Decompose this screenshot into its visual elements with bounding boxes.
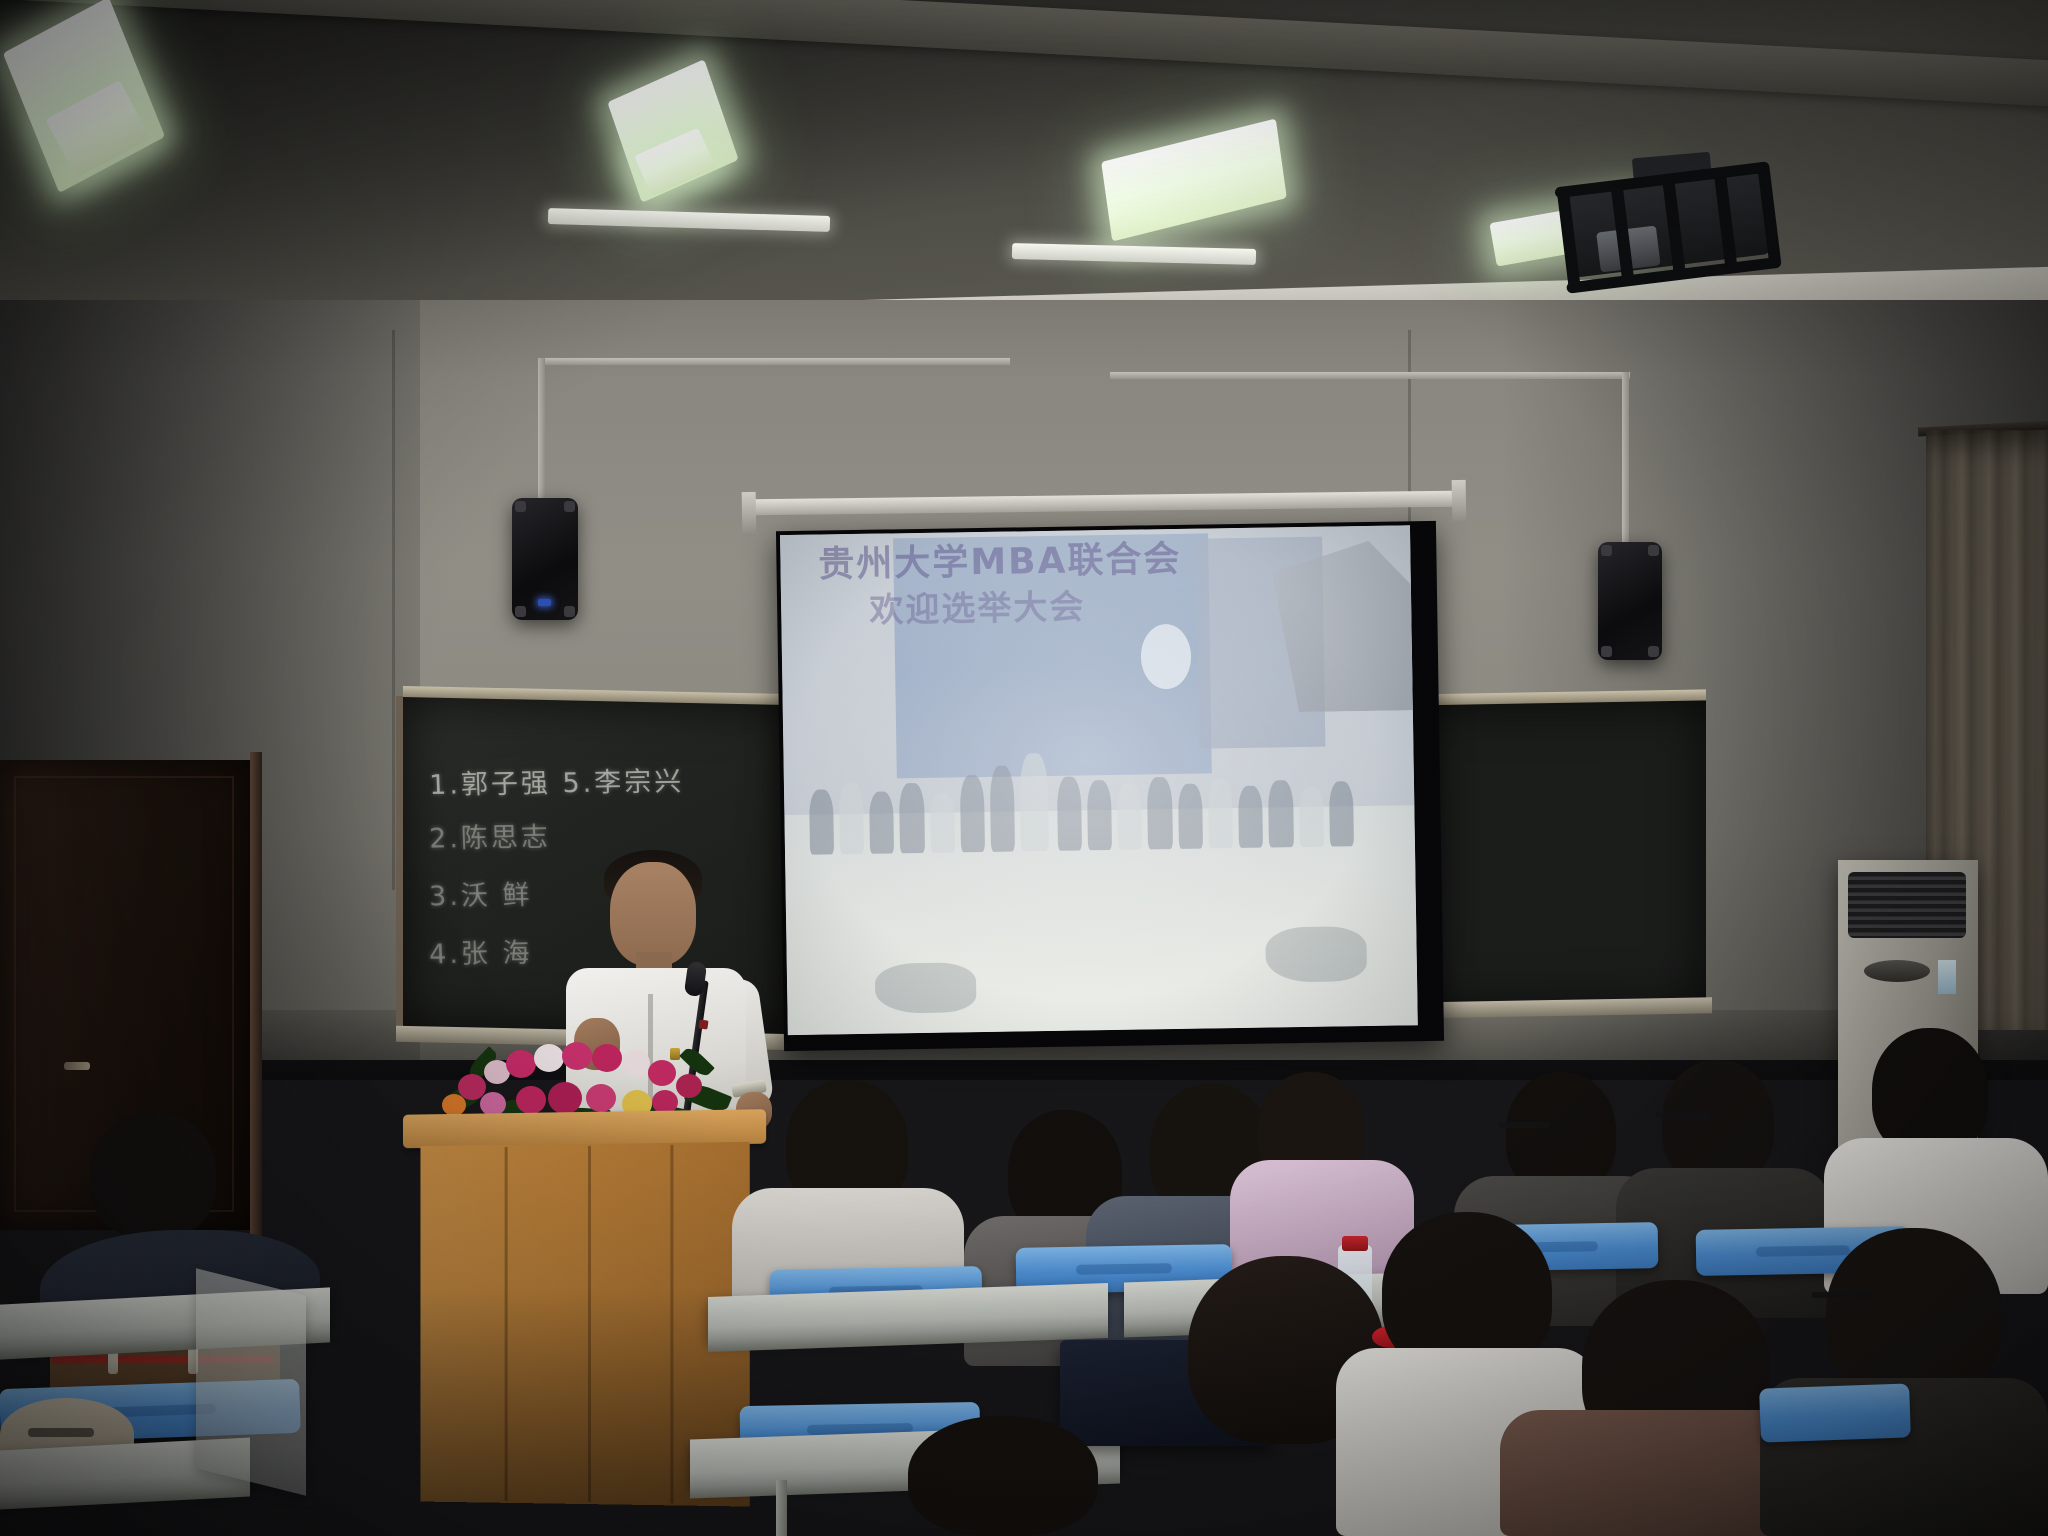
bottle-cap-icon: [1342, 1236, 1368, 1251]
blackboard-line-3: 3.沃 鲜: [428, 873, 533, 913]
conduit: [1622, 372, 1629, 542]
glasses-icon: [1498, 1122, 1550, 1128]
screen-bracket-left: [742, 492, 757, 536]
desk-leg: [776, 1480, 787, 1536]
conduit: [540, 358, 1010, 365]
conduit: [1110, 372, 1630, 379]
chair-back[interactable]: [1759, 1383, 1911, 1442]
microphone-band: [698, 1019, 708, 1029]
blackboard-line-2: 2.陈思志: [428, 815, 551, 856]
classroom-scene: 1.郭子强 5.李宗兴 2.陈思志 3.沃 鲜 4.张 海: [0, 0, 2048, 1536]
projection-screen[interactable]: 贵州大学MBA联合会 欢迎选举大会: [776, 521, 1444, 1051]
presenter-head: [610, 862, 696, 966]
door-handle-icon[interactable]: [64, 1062, 90, 1070]
cap-band: [28, 1428, 94, 1437]
ac-display-icon: [1864, 960, 1930, 982]
speaker-led-icon: [538, 599, 551, 606]
screen-glare: [780, 525, 1418, 1035]
glasses-icon: [1656, 1112, 1710, 1118]
screen-surface: 贵州大学MBA联合会 欢迎选举大会: [780, 525, 1418, 1035]
desk-side-panel: [196, 1268, 306, 1495]
ac-grille-icon: [1848, 872, 1966, 938]
audience-head: [1662, 1060, 1774, 1184]
audience-head: [1872, 1028, 1988, 1156]
audience-head: [908, 1416, 1098, 1536]
blackboard-line-1: 1.郭子强 5.李宗兴: [428, 759, 684, 802]
audience-head: [1826, 1228, 2002, 1400]
audience-head: [90, 1112, 216, 1238]
wall-speaker-left: [512, 498, 578, 620]
wall-speaker-right: [1598, 542, 1662, 660]
glasses-icon: [1812, 1292, 1872, 1298]
conduit: [538, 358, 545, 498]
ac-label: [1938, 960, 1956, 994]
orange-flower: [442, 1094, 466, 1116]
door-frame: [250, 752, 262, 1238]
screen-bracket-right: [1452, 480, 1467, 524]
blackboard-line-4: 4.张 海: [428, 931, 533, 971]
blackboard-right: [1406, 699, 1706, 1012]
